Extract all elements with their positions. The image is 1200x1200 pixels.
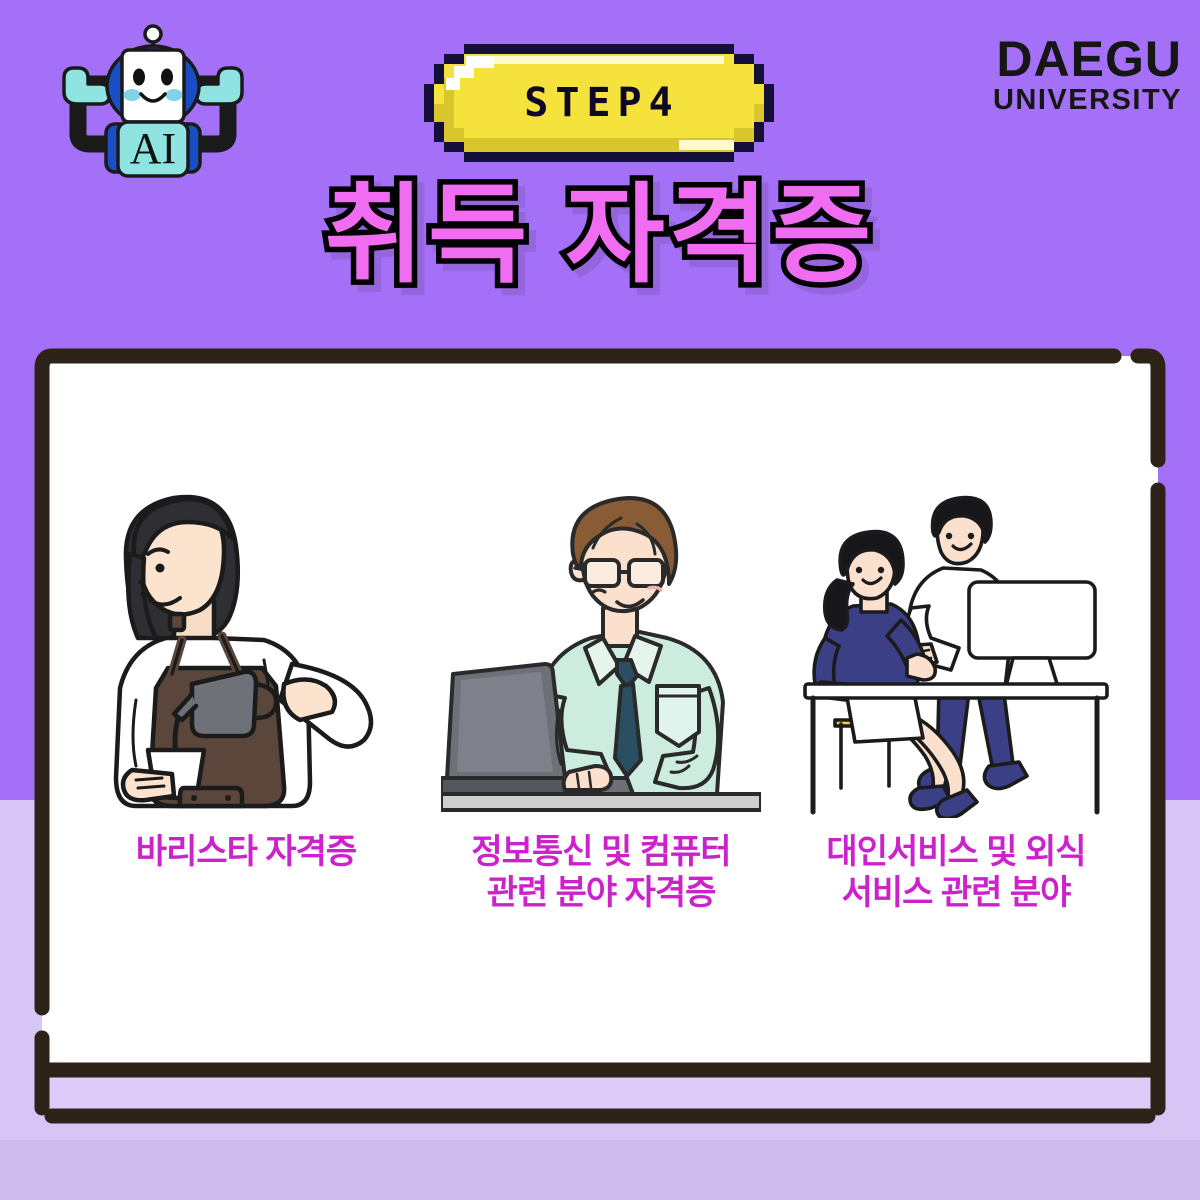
- university-subtitle: UNIVERSITY: [972, 86, 1182, 115]
- cards-row: 바리스타 자격증: [76, 488, 1126, 1008]
- background-bottom-band: [0, 1140, 1200, 1200]
- university-logo: DAEGU UNIVERSITY: [972, 34, 1182, 115]
- card-caption: 대인서비스 및 외식 서비스 관련 분야: [826, 832, 1085, 915]
- ai-robot-icon: AI: [48, 24, 258, 184]
- university-name: DAEGU: [972, 34, 1182, 84]
- man-working-on-laptop-illustration: [436, 488, 766, 818]
- card-barista: 바리스타 자격증: [76, 488, 416, 873]
- header: AI: [0, 0, 1200, 180]
- two-people-at-desk-with-monitor-illustration: [791, 488, 1121, 818]
- card-caption: 바리스타 자격증: [136, 832, 356, 873]
- card-caption: 정보통신 및 컴퓨터 관련 분야 자격증: [471, 832, 730, 915]
- card-service: 대인서비스 및 외식 서비스 관련 분야: [786, 488, 1126, 915]
- page-title: 취득 자격증: [0, 176, 1200, 295]
- step-badge-label: STEP4: [424, 44, 774, 162]
- content-panel: 바리스타 자격증: [34, 348, 1166, 1128]
- mascot-chest-label: AI: [130, 124, 176, 173]
- card-it-computer: 정보통신 및 컴퓨터 관련 분야 자격증: [431, 488, 771, 915]
- barista-pouring-latte-illustration: [81, 488, 411, 818]
- step-badge: STEP4: [424, 44, 774, 162]
